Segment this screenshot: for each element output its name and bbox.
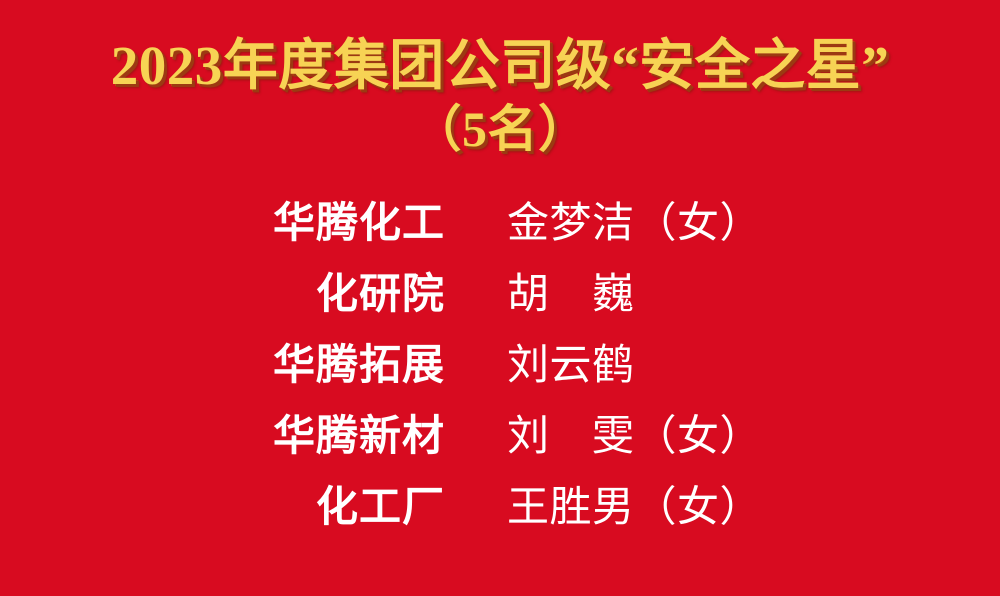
award-org-name: 华腾化工 — [273, 199, 445, 246]
award-person-name: 胡 巍 — [507, 272, 635, 318]
award-person-name: 刘云鹤 — [507, 343, 635, 389]
award-poster: 2023年度集团公司级“安全之星” （5名） 华腾化工 金梦洁（女） 化研院 胡… — [0, 0, 1000, 596]
award-org-name: 华腾拓展 — [273, 341, 445, 388]
award-org-cell: 华腾化工 — [210, 198, 445, 248]
award-person-name: 金梦洁（女） — [507, 201, 762, 247]
award-person-cell: 刘云鹤 — [507, 341, 790, 391]
award-org-name: 化工厂 — [316, 483, 445, 530]
award-person-cell: 胡 巍 — [507, 270, 790, 320]
poster-title-line-2: （5名） — [0, 99, 1000, 159]
award-org-cell: 华腾拓展 — [210, 340, 445, 390]
poster-title-block: 2023年度集团公司级“安全之星” （5名） — [0, 33, 1000, 159]
award-row: 化工厂 王胜男（女） — [0, 482, 1000, 553]
award-org-name: 化研院 — [316, 270, 445, 317]
award-org-cell: 化工厂 — [210, 482, 445, 532]
poster-title-line-1: 2023年度集团公司级“安全之星” — [0, 33, 1000, 99]
award-person-cell: 王胜男（女） — [507, 483, 790, 533]
award-row: 化研院 胡 巍 — [0, 269, 1000, 340]
award-row: 华腾化工 金梦洁（女） — [0, 198, 1000, 269]
award-org-cell: 化研院 — [210, 269, 445, 319]
award-row: 华腾新材 刘 雯（女） — [0, 411, 1000, 482]
award-person-cell: 金梦洁（女） — [507, 199, 790, 249]
award-person-name: 刘 雯（女） — [507, 414, 762, 460]
award-list: 华腾化工 金梦洁（女） 化研院 胡 巍 华腾拓展 刘云鹤 — [0, 198, 1000, 553]
award-person-name: 王胜男（女） — [507, 485, 762, 531]
award-person-cell: 刘 雯（女） — [507, 412, 790, 462]
award-row: 华腾拓展 刘云鹤 — [0, 340, 1000, 411]
award-org-name: 华腾新材 — [273, 412, 445, 459]
award-org-cell: 华腾新材 — [210, 411, 445, 461]
